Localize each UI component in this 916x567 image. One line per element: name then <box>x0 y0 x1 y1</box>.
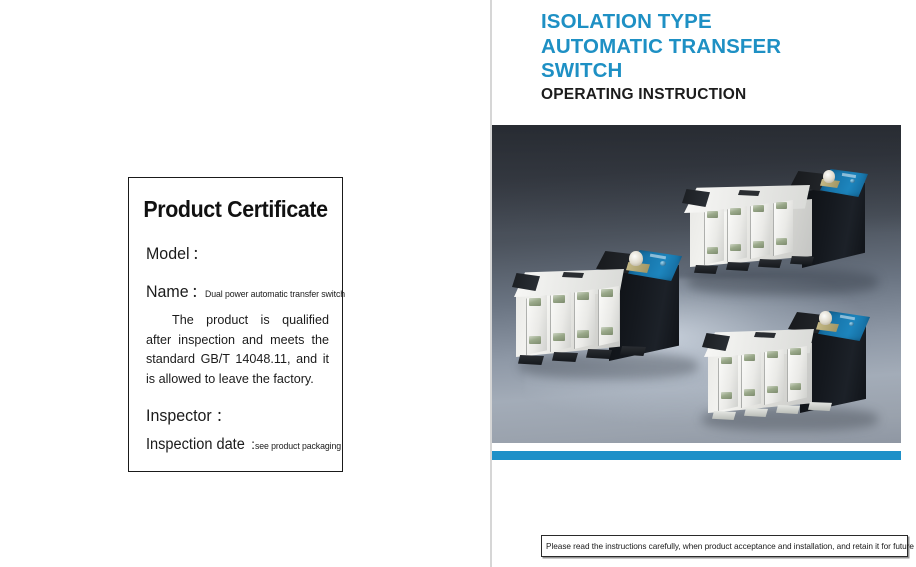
indicator-led <box>850 179 855 183</box>
cover-title-line-1: ISOLATION TYPE <box>541 10 901 35</box>
mounting-foot <box>726 262 750 271</box>
certificate-title: Product Certificate <box>136 196 334 223</box>
terminal <box>730 244 741 251</box>
certificate-field-model: Model： <box>146 244 206 264</box>
mounting-foot <box>758 259 782 268</box>
certificate-colon-inspector: ： <box>216 406 230 426</box>
unit-shadow <box>688 269 878 295</box>
product-certificate-card: Product Certificate Model： Name：Dual pow… <box>128 177 343 472</box>
terminal <box>767 351 778 358</box>
mounting-foot <box>744 408 768 417</box>
terminal <box>553 333 565 341</box>
mounting-foot <box>620 346 646 356</box>
footer-notice-box: Please read the instructions carefully, … <box>541 535 908 557</box>
cover-subtitle: OPERATING INSTRUCTION <box>541 85 901 104</box>
mounting-foot <box>694 265 718 274</box>
certificate-label-inspection-date: Inspection date <box>146 436 245 454</box>
terminal <box>707 247 718 254</box>
ats-unit-bottom-right <box>692 303 882 438</box>
mounting-foot <box>790 256 814 265</box>
certificate-field-inspection-date: Inspection date:see product packaging <box>146 436 349 454</box>
certificate-field-name: Name：Dual power automatic transfer switc… <box>146 282 358 302</box>
cover-title-line-3: SWITCH <box>541 59 901 84</box>
terminal <box>577 330 589 338</box>
certificate-value-name: Dual power automatic transfer switch <box>205 289 345 300</box>
certificate-colon-name: ： <box>191 282 205 302</box>
terminal <box>601 327 613 335</box>
certificate-label-inspector: Inspector <box>146 406 212 426</box>
mounting-foot <box>776 405 800 414</box>
certificate-value-inspection-date: see product packaging <box>255 441 341 452</box>
accent-bar <box>492 451 901 460</box>
mounting-foot <box>712 411 736 420</box>
terminal <box>577 292 589 300</box>
indicator-led <box>849 322 854 326</box>
operating-knob <box>823 170 835 183</box>
terminal <box>753 241 764 248</box>
switch-nameplate <box>738 190 760 196</box>
terminal <box>776 202 787 209</box>
terminal <box>707 211 718 218</box>
certificate-body-text: The product is qualified after inspectio… <box>146 311 329 389</box>
mounting-foot <box>586 349 612 359</box>
cover-title-line-2: AUTOMATIC TRANSFER <box>541 35 901 60</box>
switch-end-cap <box>512 273 540 291</box>
certificate-label-model: Model <box>146 244 190 264</box>
terminal <box>601 289 613 297</box>
terminal <box>744 354 755 361</box>
certificate-colon-model: ： <box>192 244 206 264</box>
footer-notice-text: Please read the instructions carefully, … <box>546 541 916 551</box>
terminal <box>776 238 787 245</box>
indicator-led <box>660 261 666 266</box>
terminal <box>529 298 541 306</box>
ats-unit-rear-right <box>680 165 885 305</box>
mounting-foot <box>808 402 832 411</box>
terminal <box>744 389 755 396</box>
switch-end-cap <box>682 189 710 207</box>
switch-nameplate <box>754 332 776 338</box>
certificate-field-inspector: Inspector： <box>146 406 230 426</box>
terminal <box>753 205 764 212</box>
terminal <box>730 208 741 215</box>
terminal <box>721 392 732 399</box>
cover-heading: ISOLATION TYPE AUTOMATIC TRANSFER SWITCH… <box>541 10 901 104</box>
switch-end-cap <box>702 333 730 351</box>
ats-unit-left-front <box>514 243 694 388</box>
terminal <box>767 386 778 393</box>
product-photo <box>492 125 901 443</box>
operating-knob <box>629 251 643 266</box>
mounting-foot <box>552 352 578 362</box>
left-page: Product Certificate Model： Name：Dual pow… <box>0 0 490 567</box>
manual-cover-spread: Product Certificate Model： Name：Dual pow… <box>0 0 916 567</box>
mounting-foot <box>518 355 544 365</box>
certificate-label-name: Name <box>146 282 189 302</box>
switch-nameplate <box>562 272 584 278</box>
terminal <box>721 357 732 364</box>
terminal <box>529 336 541 344</box>
right-page: ISOLATION TYPE AUTOMATIC TRANSFER SWITCH… <box>490 0 916 567</box>
operating-knob <box>819 311 832 325</box>
terminal <box>790 348 801 355</box>
terminal <box>553 295 565 303</box>
terminal <box>790 383 801 390</box>
